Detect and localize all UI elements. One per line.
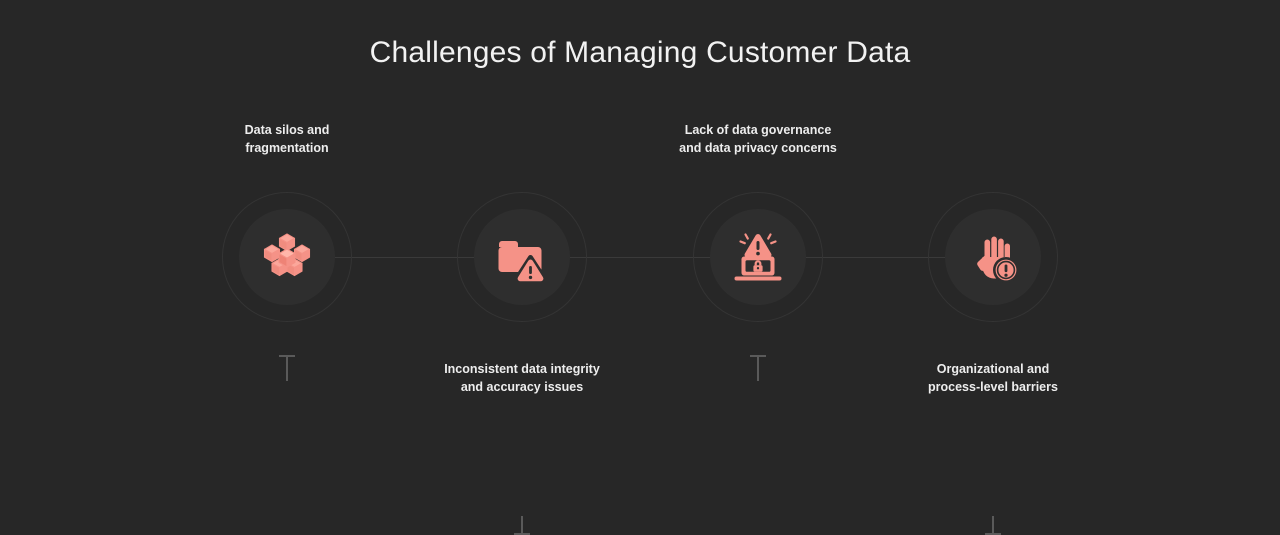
node-label-1-line1: Data silos and xyxy=(157,121,417,139)
node-label-4-line2: process-level barriers xyxy=(863,378,1123,396)
node-label-4-line1: Organizational and xyxy=(863,360,1123,378)
process-node-2[interactable] xyxy=(457,192,587,322)
process-node-1[interactable] xyxy=(222,192,352,322)
node-label-2-line2: and accuracy issues xyxy=(392,378,652,396)
folder-warning-icon xyxy=(490,225,554,289)
cube-cluster-icon xyxy=(255,225,319,289)
node-label-1-line2: fragmentation xyxy=(157,139,417,157)
node-label-3: Lack of data governance and data privacy… xyxy=(628,121,888,157)
process-node-4[interactable] xyxy=(928,192,1058,322)
node-label-3-line1: Lack of data governance xyxy=(628,121,888,139)
timeline-connector-line xyxy=(287,257,993,258)
laptop-lock-alert-icon xyxy=(726,225,790,289)
node-stem xyxy=(286,355,288,381)
node-label-2-line1: Inconsistent data integrity xyxy=(392,360,652,378)
infographic-canvas: Challenges of Managing Customer Data xyxy=(0,0,1280,431)
page-title: Challenges of Managing Customer Data xyxy=(0,33,1280,73)
node-stem xyxy=(521,516,523,534)
node-label-3-line2: and data privacy concerns xyxy=(628,139,888,157)
node-stem xyxy=(757,355,759,381)
node-label-4: Organizational and process-level barrier… xyxy=(863,360,1123,396)
process-node-3[interactable] xyxy=(693,192,823,322)
stop-hand-alert-icon xyxy=(961,225,1025,289)
node-label-1: Data silos and fragmentation xyxy=(157,121,417,157)
node-label-2: Inconsistent data integrity and accuracy… xyxy=(392,360,652,396)
node-stem xyxy=(992,516,994,534)
